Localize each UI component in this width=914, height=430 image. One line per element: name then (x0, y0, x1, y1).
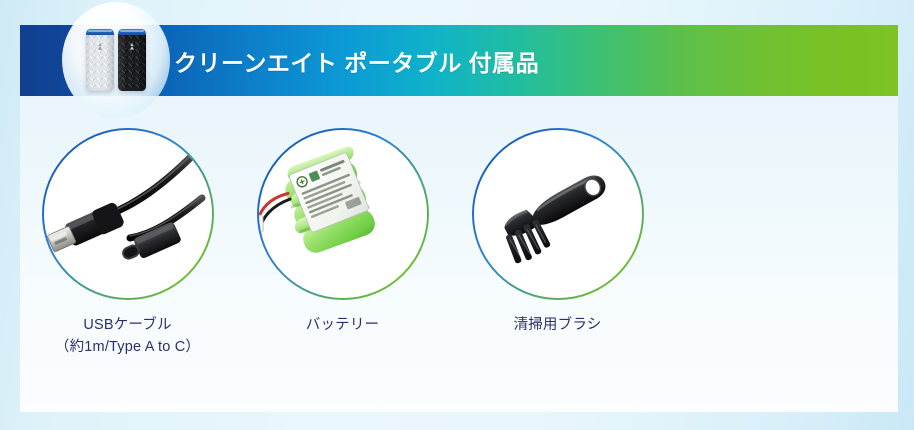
product-image (62, 2, 170, 118)
accessory-circle-usb-cable (42, 128, 214, 300)
device-white-icon (86, 29, 114, 91)
accessory-image-usb-cable (44, 130, 212, 298)
accessory-image-cleaning-brush (474, 130, 642, 298)
accessory-item-usb-cable: USBケーブル （約1m/Type A to C） (20, 128, 235, 359)
accessory-circle-cleaning-brush (472, 128, 644, 300)
accessory-caption-battery: バッテリー (306, 314, 380, 336)
brand-logo-icon (96, 42, 105, 51)
usb-cable-icon (44, 130, 212, 298)
brand-logo-icon (128, 42, 137, 51)
accessories-page: クリーンエイト ポータブル 付属品 (0, 0, 914, 430)
accessory-item-cleaning-brush: 清掃用ブラシ (450, 128, 665, 336)
product-badge (62, 2, 170, 118)
accessory-image-battery (259, 130, 427, 298)
accessory-circle-battery (257, 128, 429, 300)
device-black-icon (118, 29, 146, 91)
caption-line-2: （約1m/Type A to C） (55, 336, 200, 358)
accessory-item-battery: バッテリー (235, 128, 450, 336)
caption-line-1: USBケーブル (83, 317, 171, 333)
cleaning-brush-icon (474, 130, 642, 298)
caption-line-1: 清掃用ブラシ (514, 317, 602, 333)
caption-line-1: バッテリー (306, 317, 380, 333)
accessory-caption-cleaning-brush: 清掃用ブラシ (514, 314, 602, 336)
accessory-caption-usb-cable: USBケーブル （約1m/Type A to C） (55, 314, 200, 359)
accessory-list: USBケーブル （約1m/Type A to C） (20, 128, 700, 359)
page-title: クリーンエイト ポータブル 付属品 (174, 25, 539, 96)
battery-pack-icon (259, 130, 427, 298)
